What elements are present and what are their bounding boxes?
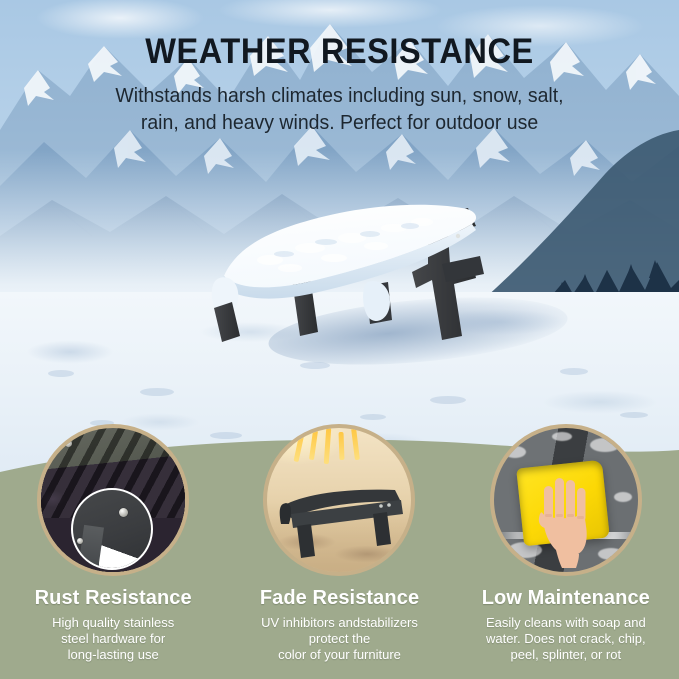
feature-description-line-1: Easily cleans with soap and xyxy=(486,615,646,631)
feature-description-line-1: High quality stainless xyxy=(52,615,174,631)
feature-title: Fade Resistance xyxy=(260,587,419,610)
sun-ray-icon xyxy=(352,428,361,460)
page-subtitle-line-2: rain, and heavy winds. Perfect for outdo… xyxy=(17,109,662,136)
low-maintenance-image xyxy=(490,424,642,576)
page-subtitle: Withstands harsh climates including sun,… xyxy=(17,82,662,136)
feature-title: Rust Resistance xyxy=(35,587,192,610)
feature-description-line-3: color of your furniture xyxy=(261,647,418,663)
feature-description: UV inhibitors andstabilizers protect the… xyxy=(261,615,418,663)
feature-rust-resistance: Rust Resistance High quality stainless s… xyxy=(0,424,226,663)
feature-columns: Rust Resistance High quality stainless s… xyxy=(0,424,679,679)
feature-fade-resistance: Fade Resistance UV inhibitors andstabili… xyxy=(226,424,452,663)
feature-description: Easily cleans with soap and water. Does … xyxy=(486,615,646,663)
sun-ray-icon xyxy=(324,428,331,464)
page-title: WEATHER RESISTANCE xyxy=(24,32,655,72)
page-subtitle-line-1: Withstands harsh climates including sun,… xyxy=(17,82,662,109)
feature-description-line-1: UV inhibitors andstabilizers xyxy=(261,615,418,631)
hand-icon xyxy=(538,472,594,568)
feature-description-line-2: water. Does not crack, chip, xyxy=(486,631,646,647)
snow-covered-bench xyxy=(180,168,500,360)
feature-description-line-2: protect the xyxy=(261,631,418,647)
sun-ray-icon xyxy=(339,432,345,460)
feature-description: High quality stainless steel hardware fo… xyxy=(52,615,174,663)
magnifier-inset xyxy=(71,488,153,570)
stainless-screw-icon xyxy=(119,508,128,517)
feature-description-line-2: steel hardware for xyxy=(52,631,174,647)
sun-ray-icon xyxy=(309,430,318,460)
feature-description-line-3: peel, splinter, or rot xyxy=(486,647,646,663)
feature-description-line-3: long-lasting use xyxy=(52,647,174,663)
rust-resistance-image xyxy=(37,424,189,576)
bench-silhouette xyxy=(277,480,413,560)
bench-edge-highlight xyxy=(99,534,153,570)
fade-resistance-image xyxy=(263,424,415,576)
feature-low-maintenance: Low Maintenance Easily cleans with soap … xyxy=(453,424,679,663)
sun-ray-icon xyxy=(294,428,306,462)
infographic-canvas: Rust Resistance High quality stainless s… xyxy=(0,0,679,679)
feature-title: Low Maintenance xyxy=(482,587,650,610)
